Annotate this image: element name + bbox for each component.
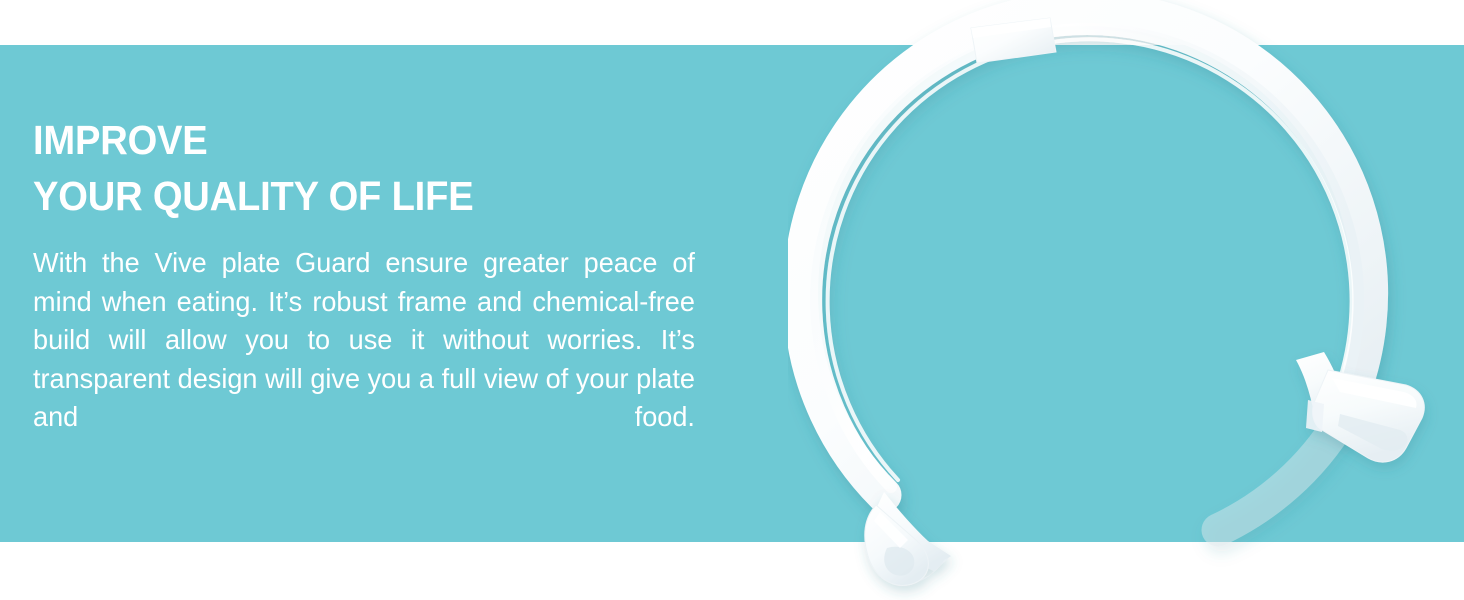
guard-ring [801,9,1371,530]
plate-guard-illustration [788,0,1464,600]
left-hook-clip [865,492,951,585]
product-image [788,0,1464,600]
headline-line-1: IMPROVE [33,112,656,168]
headline-line-2: YOUR QUALITY OF LIFE [33,168,656,224]
body-paragraph: With the Vive plate Guard ensure greater… [33,224,695,475]
banner-canvas: IMPROVE YOUR QUALITY OF LIFE With the Vi… [0,0,1464,600]
copy-block: IMPROVE YOUR QUALITY OF LIFE With the Vi… [33,112,703,475]
